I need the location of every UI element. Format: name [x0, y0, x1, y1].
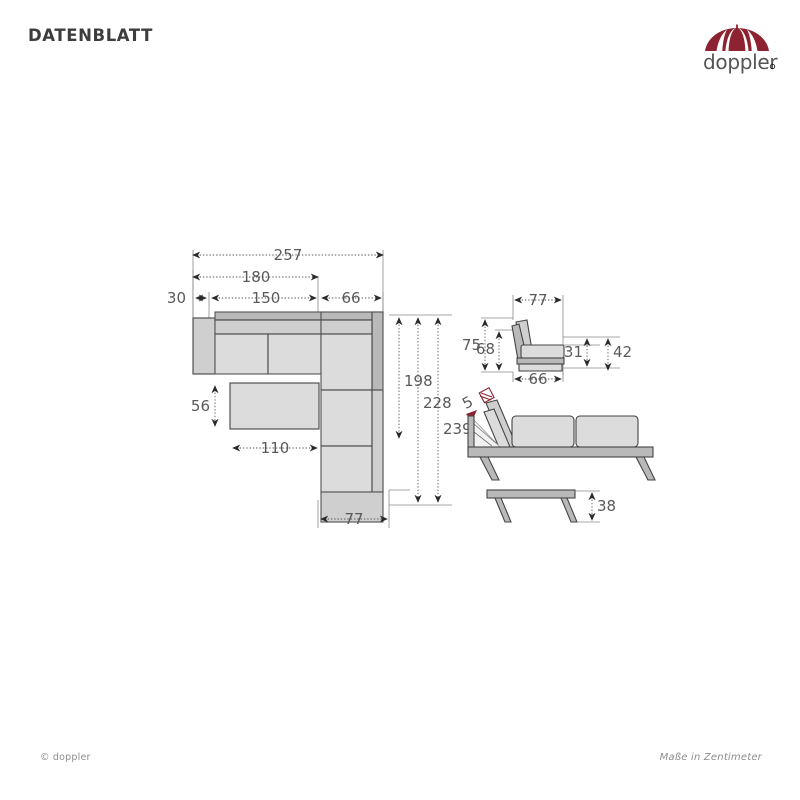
dimension-label-30: 30: [167, 289, 186, 307]
lounger-cushion-1: [512, 416, 574, 447]
table-side-elevation: 38: [487, 490, 616, 522]
backrest-cushion-row: [215, 320, 321, 334]
dimension-label-31: 31: [564, 343, 583, 361]
seat-cushion-2: [268, 334, 321, 374]
sofa-horizontal-run: [193, 312, 321, 374]
lounger-leg-left: [480, 457, 499, 480]
side-seat-cushion-1: [321, 390, 372, 446]
corner-seat-cushion: [321, 334, 372, 390]
sofa-vertical-run: [321, 312, 383, 522]
dimension-label-110: 110: [261, 439, 290, 457]
recline-fan-icon: [479, 388, 494, 403]
dimension-label-77-seat: 77: [528, 291, 547, 309]
lounger-arm-post: [468, 416, 474, 450]
dimension-label-180: 180: [242, 268, 271, 286]
dimension-150: 150: [212, 289, 316, 307]
lounger-leg-right: [636, 457, 655, 480]
dimension-label-66-seat: 66: [528, 370, 547, 388]
side-seat-cushion-2: [321, 446, 372, 492]
top-view-plan: 257 180 30 150 66: [167, 246, 472, 528]
dimension-label-150: 150: [252, 289, 281, 307]
dimension-label-66-plan: 66: [341, 289, 360, 307]
dimension-198: 198: [399, 318, 433, 438]
dimension-228: 228: [418, 318, 452, 502]
dimension-label-77-plan: 77: [344, 510, 363, 528]
table-top-side: [487, 490, 575, 498]
seat-cushion-side: [521, 345, 564, 358]
dimension-label-257: 257: [274, 246, 303, 264]
armrest-left: [193, 318, 215, 374]
dimension-66: 66: [322, 289, 381, 307]
dimension-label-38: 38: [597, 497, 616, 515]
dimension-56: 56: [191, 386, 215, 426]
seat-side-elevation: 77 75 68 31 42: [462, 291, 632, 388]
table-leg-right: [561, 498, 577, 522]
lounger-frame-rail: [468, 447, 653, 457]
seat-cushion-1: [215, 334, 268, 374]
dimension-66-seat: 66: [515, 370, 561, 388]
dimension-180: 180: [193, 268, 318, 286]
backrest-top-band: [215, 312, 321, 320]
dimension-label-228: 228: [423, 394, 452, 412]
dimension-label-56: 56: [191, 397, 210, 415]
seat-body: [512, 320, 564, 371]
side-arm-band: [372, 390, 383, 492]
dimension-110: 110: [233, 439, 317, 457]
table-leg-left: [495, 498, 511, 522]
dimension-31: 31: [564, 339, 587, 366]
footer-units-note: Maße in Zentimeter: [660, 752, 762, 763]
technical-drawing-canvas: 257 180 30 150 66: [0, 0, 800, 800]
lounger-body: [468, 400, 655, 480]
dimension-label-42: 42: [613, 343, 632, 361]
seat-frame-rail: [517, 358, 564, 364]
recline-count-label: 5: [459, 392, 476, 412]
coffee-table-top-view: [230, 383, 319, 429]
dimension-77-seat: 77: [515, 291, 561, 309]
dimension-label-239: 239: [443, 420, 472, 438]
lounger-side-elevation: 5: [459, 388, 655, 480]
dimension-30: 30: [167, 289, 206, 307]
dimension-label-68: 68: [476, 340, 495, 358]
lounger-cushion-2: [576, 416, 638, 447]
dimension-38: 38: [592, 493, 616, 520]
footer-copyright: © doppler: [40, 752, 91, 763]
dimension-42: 42: [608, 339, 632, 370]
corner-backrest-cushion: [321, 320, 372, 334]
dimension-257: 257: [193, 246, 383, 264]
coffee-table-plan: [230, 383, 319, 429]
